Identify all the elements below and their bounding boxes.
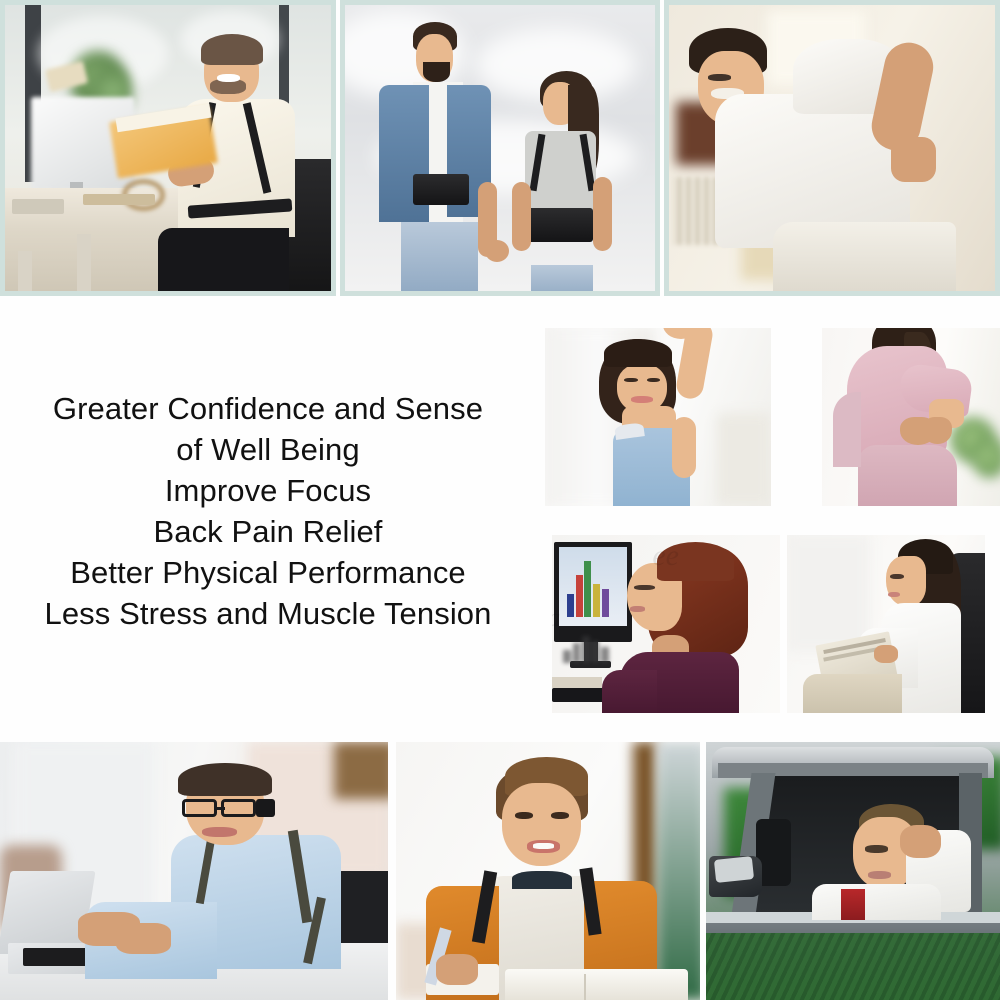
- panel-reading-woman: [787, 535, 985, 713]
- panel-back-pain-man: [664, 0, 1000, 296]
- photo-neck-pain-at-computer: ee a: [552, 535, 780, 713]
- panel-boy-studying: [396, 742, 700, 1000]
- benefit-line-1: Greater Confidence and Sense: [0, 388, 536, 429]
- panel-pink-back-pain-woman: [822, 328, 1000, 506]
- photo-stretching-woman: [545, 328, 771, 506]
- panel-neck-pain-at-computer: ee a: [552, 535, 780, 713]
- collage-page: Greater Confidence and Sense of Well Bei…: [0, 0, 1000, 1000]
- benefit-line-3: Improve Focus: [0, 470, 536, 511]
- photo-pink-back-pain-woman: [822, 328, 1000, 506]
- photo-boy-studying: [396, 742, 700, 1000]
- benefit-line-2: of Well Being: [0, 429, 536, 470]
- photo-man-in-car: [706, 742, 1000, 1000]
- benefit-line-5: Better Physical Performance: [0, 552, 536, 593]
- watermark-text: ee: [652, 539, 679, 573]
- watermark-text-secondary: a: [552, 603, 560, 633]
- monitor-bar-chart: [566, 556, 621, 617]
- panel-man-in-car: [706, 742, 1000, 1000]
- benefit-line-4: Back Pain Relief: [0, 511, 536, 552]
- panel-stretching-woman: [545, 328, 771, 506]
- photo-back-pain-man: [669, 5, 995, 291]
- photo-office-man: [5, 5, 331, 291]
- photo-reading-woman: [787, 535, 985, 713]
- benefit-line-6: Less Stress and Muscle Tension: [0, 593, 536, 634]
- benefits-text-block: Greater Confidence and Sense of Well Bei…: [0, 388, 536, 634]
- panel-office-man: [0, 0, 336, 296]
- panel-laptop-man: [0, 742, 388, 1000]
- photo-laptop-man: [0, 742, 388, 1000]
- panel-couple-walking: [340, 0, 660, 296]
- photo-couple-walking: [345, 5, 655, 291]
